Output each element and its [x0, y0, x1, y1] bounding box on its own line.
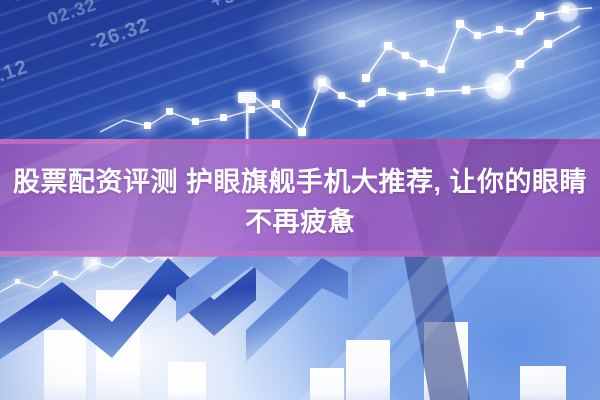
title-line-1: 股票配资评测 护眼旗舰手机大推荐, 让你的眼睛: [0, 162, 600, 202]
page-title: 股票配资评测 护眼旗舰手机大推荐, 让你的眼睛 不再疲惫: [0, 162, 600, 242]
banner-image: -2.36-11.25+5.02-02.3645.0221.054.36+45.…: [0, 0, 600, 400]
title-line-2: 不再疲惫: [0, 202, 600, 242]
